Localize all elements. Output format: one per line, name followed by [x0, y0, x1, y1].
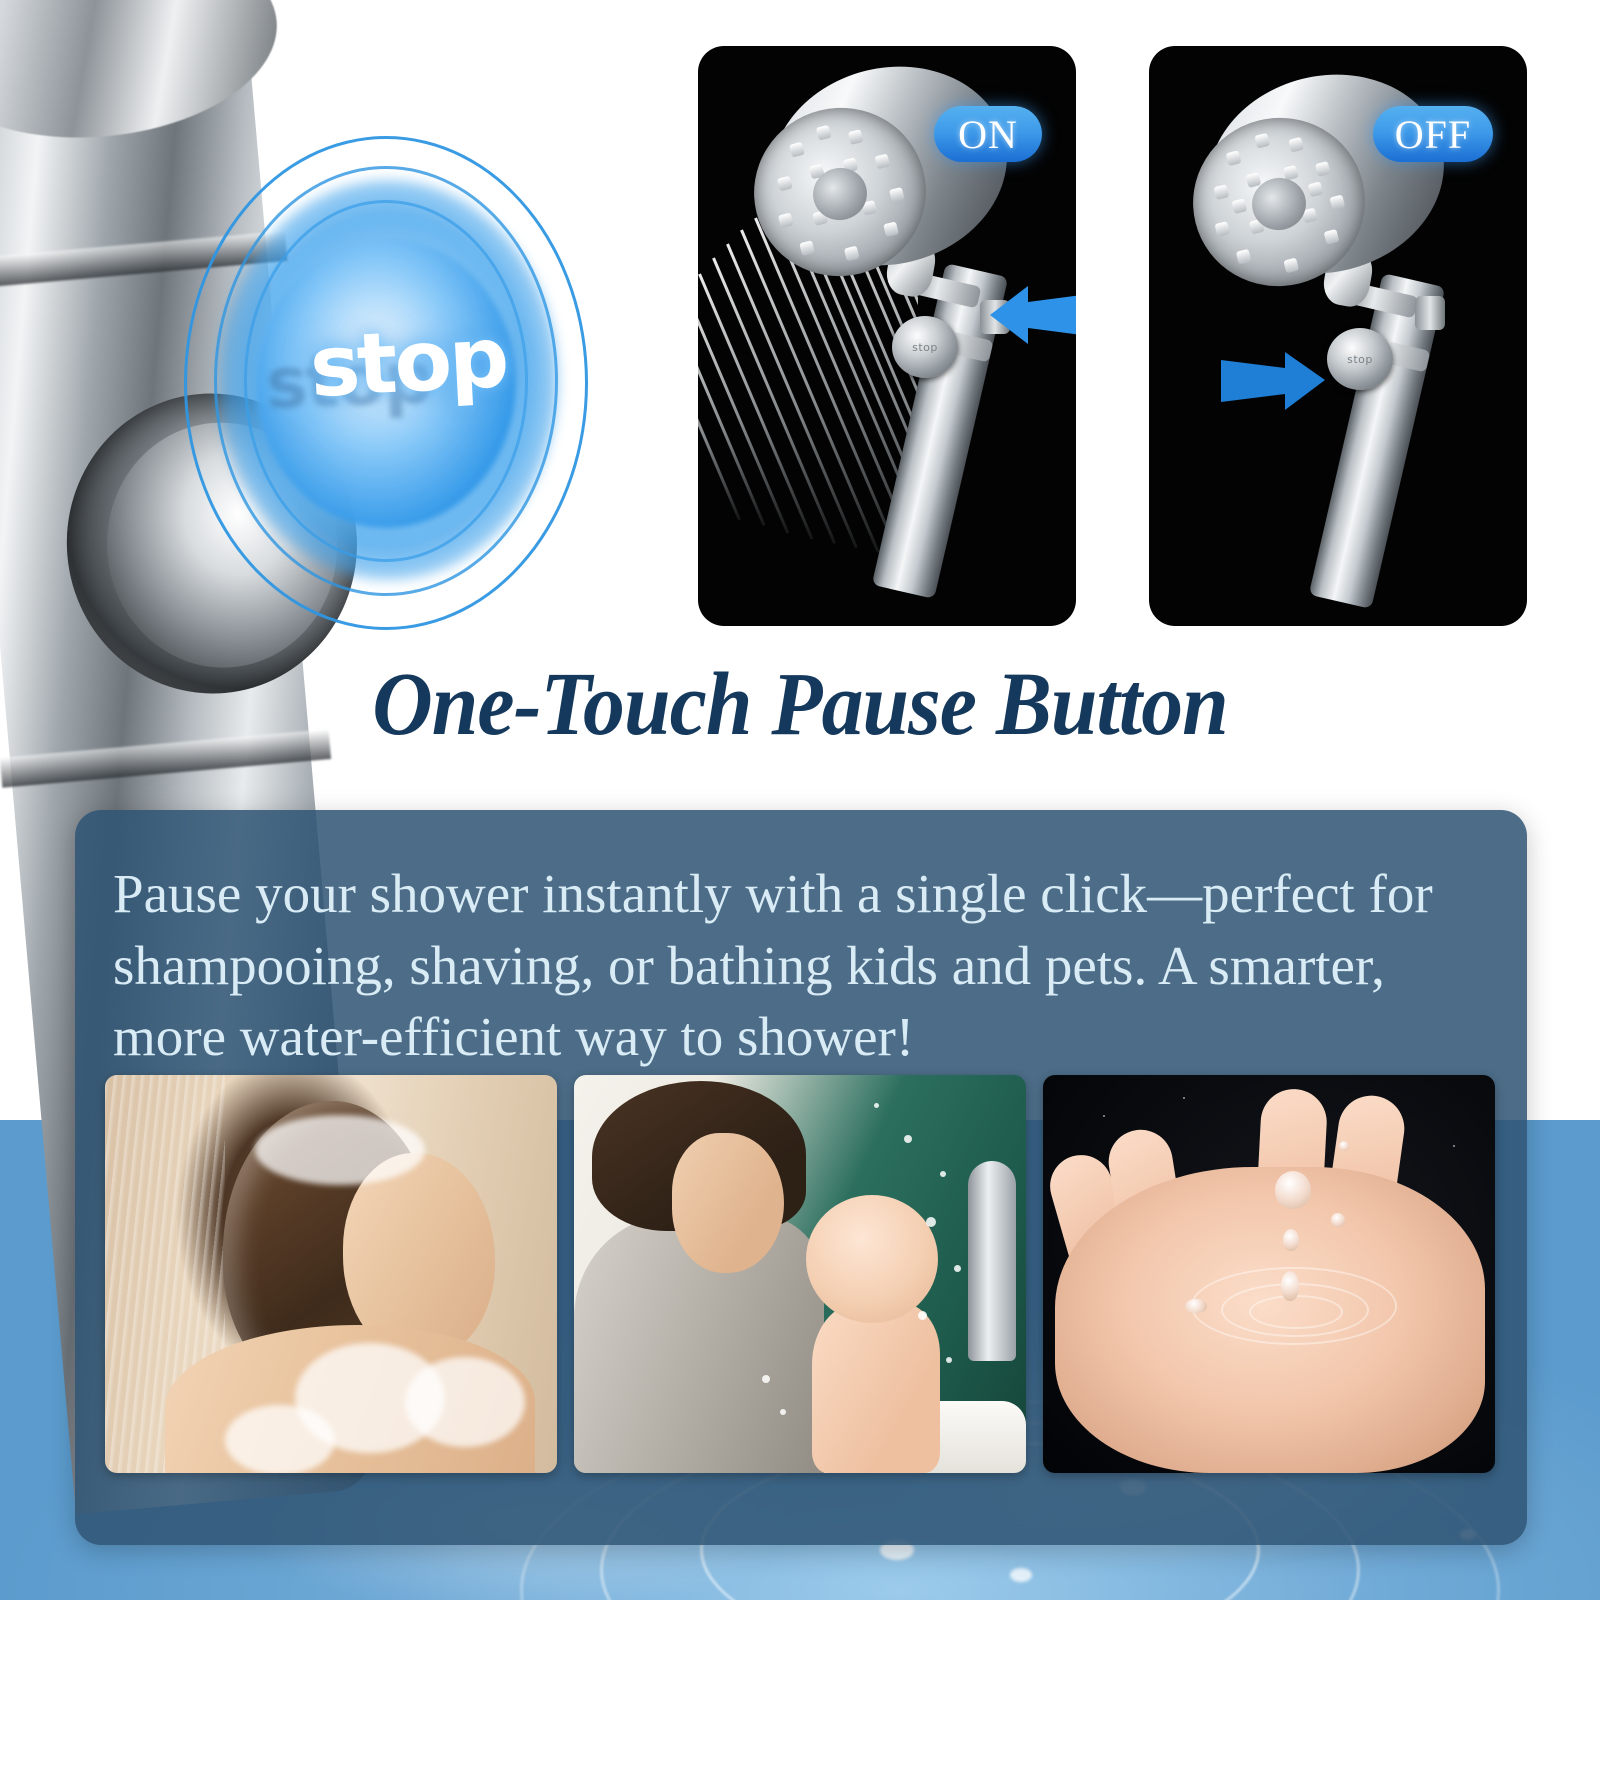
arrow-left-icon — [984, 278, 1076, 352]
water-splash — [940, 1171, 946, 1177]
water-droplet — [1339, 1141, 1349, 1151]
mother-face — [672, 1133, 784, 1273]
soap-foam — [405, 1357, 525, 1447]
soap-foam — [255, 1115, 425, 1185]
demo-panel-off: stop OFF — [1149, 46, 1527, 626]
stop-button[interactable]: stop — [892, 316, 958, 378]
stop-button-label: stop — [912, 341, 938, 354]
status-badge-off: OFF — [1373, 106, 1493, 162]
baby-head — [806, 1195, 938, 1323]
water-splash — [954, 1265, 961, 1272]
water-droplet — [1185, 1299, 1207, 1313]
photo-bathing-baby — [574, 1075, 1026, 1473]
demo-panel-on: stop ON — [698, 46, 1076, 626]
stop-label: stop — [308, 308, 509, 416]
stop-button[interactable]: stop — [1327, 328, 1393, 390]
faucet — [968, 1161, 1016, 1361]
water-splash — [780, 1409, 786, 1415]
water-ripple — [1249, 1295, 1343, 1329]
water-splash — [874, 1103, 879, 1108]
water-splash — [918, 1311, 927, 1320]
water-droplet — [1281, 1271, 1299, 1301]
water-droplet — [1283, 1229, 1299, 1251]
water-splash — [762, 1375, 770, 1383]
soap-foam — [225, 1405, 335, 1473]
water-splash — [904, 1135, 912, 1143]
photo-shampooing — [105, 1075, 557, 1473]
stop-button-label: stop — [1347, 353, 1373, 366]
arrow-right-icon — [1215, 346, 1331, 420]
water-droplet — [1331, 1213, 1345, 1227]
baby-body — [812, 1303, 940, 1473]
water-droplet — [1275, 1171, 1311, 1209]
stop-button-graphic[interactable]: stop stop — [170, 128, 600, 638]
water-splash-dot — [1010, 1568, 1032, 1582]
photo-water-drop — [1043, 1075, 1495, 1473]
page-title: One-Touch Pause Button — [56, 660, 1544, 750]
water-splash — [926, 1217, 936, 1227]
button-nub — [1415, 296, 1445, 330]
use-case-photo-strip — [105, 1075, 1495, 1473]
status-badge-on: ON — [934, 106, 1042, 162]
description-text: Pause your shower instantly with a singl… — [113, 858, 1491, 1073]
water-splash — [946, 1357, 952, 1363]
